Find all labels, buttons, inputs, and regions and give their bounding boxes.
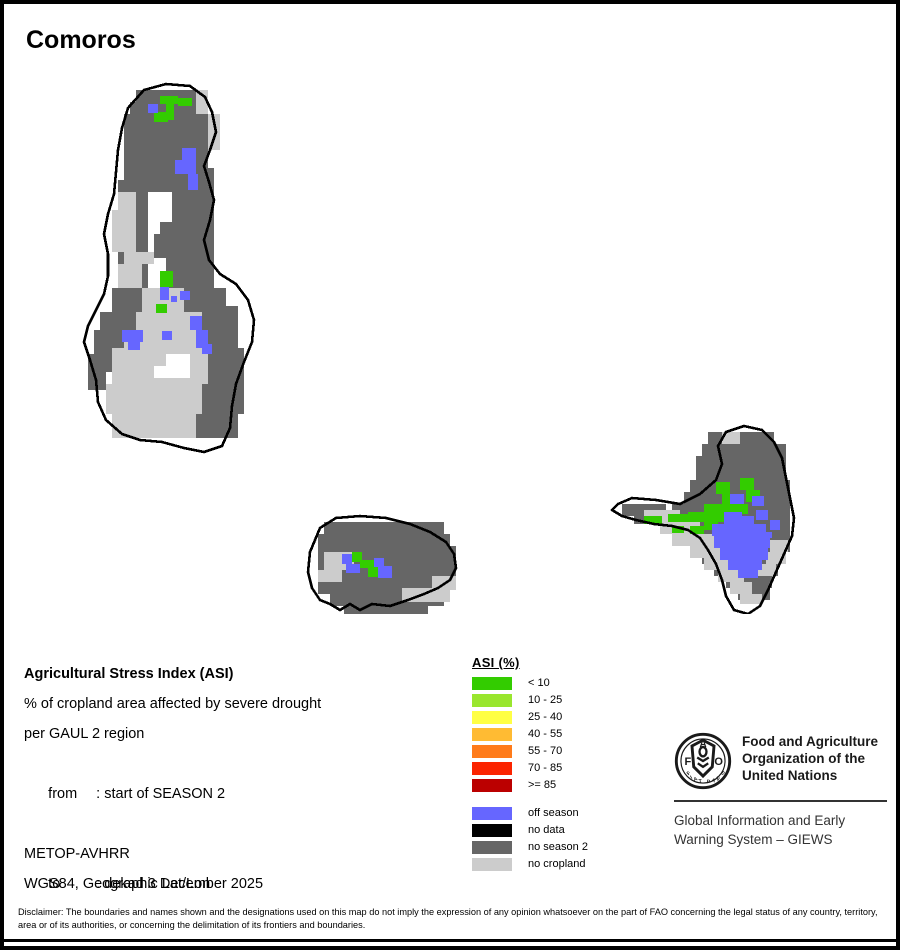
info-from-value: : start of SEASON 2 xyxy=(96,786,225,802)
legend-swatch xyxy=(472,858,512,871)
legend-swatch xyxy=(472,677,512,690)
fao-divider xyxy=(674,800,887,802)
disclaimer-rule xyxy=(4,939,896,942)
svg-text:A: A xyxy=(699,739,706,750)
legend-swatch xyxy=(472,824,512,837)
legend: ASI (%) < 10 10 - 25 25 - 40 40 - 55 55 … xyxy=(472,655,588,873)
legend-label: < 10 xyxy=(528,677,550,690)
island-anjouan xyxy=(612,426,794,614)
legend-swatch xyxy=(472,711,512,724)
disclaimer-text: Disclaimer: The boundaries and names sho… xyxy=(18,906,878,932)
svg-text:F: F xyxy=(685,756,692,768)
legend-item: 70 - 85 xyxy=(472,760,588,777)
legend-swatch xyxy=(472,841,512,854)
legend-item: 25 - 40 xyxy=(472,709,588,726)
legend-label: off season xyxy=(528,807,579,820)
info-from-row: from: start of SEASON 2 xyxy=(24,749,321,839)
legend-item: no data xyxy=(472,822,588,839)
giews-name: Global Information and Early Warning Sys… xyxy=(674,811,889,849)
info-heading: Agricultural Stress Index (ASI) xyxy=(24,659,321,689)
source-block: METOP-AVHRR WGS84, Geographic Lat/Lon xyxy=(24,839,210,899)
sensor-label: METOP-AVHRR xyxy=(24,839,210,869)
legend-item: 40 - 55 xyxy=(472,726,588,743)
legend-item: no season 2 xyxy=(472,839,588,856)
giews-line1: Global Information and Early xyxy=(674,811,889,830)
island-moheli xyxy=(308,516,456,614)
fao-branding: A F O F I A T P A N I S xyxy=(674,732,889,849)
fao-logo-icon: A F O F I A T P A N I S xyxy=(674,732,732,790)
legend-label: 70 - 85 xyxy=(528,762,562,775)
info-from-label: from xyxy=(48,779,96,809)
legend-item: 55 - 70 xyxy=(472,743,588,760)
map-page: Comoros xyxy=(0,0,900,950)
legend-label: 25 - 40 xyxy=(528,711,562,724)
map-canvas xyxy=(4,54,896,614)
fao-org-line1: Food and Agriculture xyxy=(742,733,878,750)
svg-text:O: O xyxy=(714,756,723,768)
legend-item: >= 85 xyxy=(472,777,588,794)
projection-label: WGS84, Geographic Lat/Lon xyxy=(24,869,210,899)
legend-swatch xyxy=(472,779,512,792)
legend-label: >= 85 xyxy=(528,779,556,792)
info-line1: % of cropland area affected by severe dr… xyxy=(24,689,321,719)
fao-org-name: Food and Agriculture Organization of the… xyxy=(742,732,878,784)
legend-swatch xyxy=(472,728,512,741)
fao-org-line2: Organization of the xyxy=(742,750,878,767)
legend-item: < 10 xyxy=(472,675,588,692)
legend-item: 10 - 25 xyxy=(472,692,588,709)
legend-label: no cropland xyxy=(528,858,586,871)
legend-item: no cropland xyxy=(472,856,588,873)
info-line2: per GAUL 2 region xyxy=(24,719,321,749)
legend-label: no data xyxy=(528,824,565,837)
giews-line2: Warning System – GIEWS xyxy=(674,830,889,849)
legend-swatch xyxy=(472,762,512,775)
legend-swatch xyxy=(472,694,512,707)
legend-label: 10 - 25 xyxy=(528,694,562,707)
legend-title: ASI (%) xyxy=(472,655,588,670)
legend-swatch xyxy=(472,807,512,820)
legend-spacer xyxy=(472,794,588,805)
fao-org-line3: United Nations xyxy=(742,767,878,784)
legend-item: off season xyxy=(472,805,588,822)
legend-label: no season 2 xyxy=(528,841,588,854)
legend-swatch xyxy=(472,745,512,758)
svg-text:A: A xyxy=(693,776,699,783)
island-grande-comore xyxy=(84,84,254,452)
legend-label: 40 - 55 xyxy=(528,728,562,741)
svg-text:T: T xyxy=(698,779,703,785)
page-title: Comoros xyxy=(26,26,136,55)
legend-label: 55 - 70 xyxy=(528,745,562,758)
